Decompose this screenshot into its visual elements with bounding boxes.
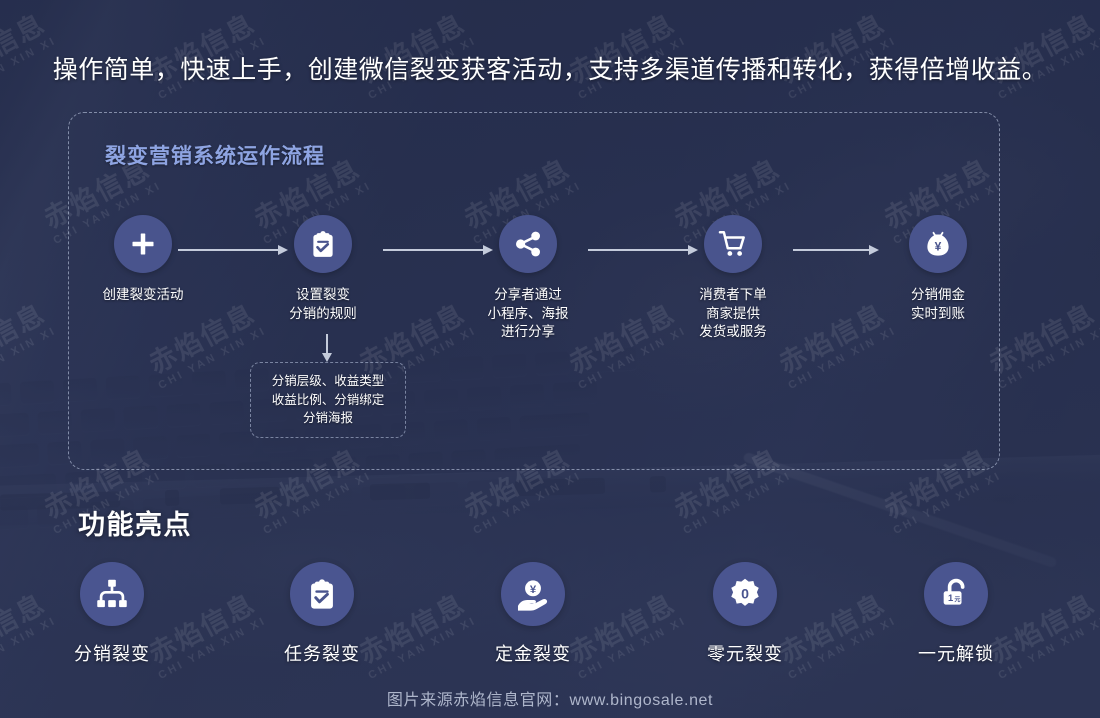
- feature-item-3[interactable]: ¥定金裂变: [443, 562, 623, 666]
- feature-item-4[interactable]: 0零元裂变: [655, 562, 835, 666]
- headline: 操作简单，快速上手，创建微信裂变获客活动，支持多渠道传播和转化，获得倍增收益。: [0, 50, 1100, 86]
- clipboard-check-icon: [290, 562, 354, 626]
- flow-detail-box: 分销层级、收益类型 收益比例、分销绑定 分销海报: [250, 362, 406, 438]
- feature-item-5[interactable]: 1元一元解锁: [866, 562, 1046, 666]
- svg-text:¥: ¥: [530, 584, 537, 596]
- flow-arrow-down: [322, 334, 332, 362]
- feature-label: 任务裂变: [232, 640, 412, 666]
- flow-arrow-2: [383, 245, 493, 255]
- flow-step-label: 分销佣金 实时到账: [863, 286, 1013, 323]
- unlock-one-yuan-icon: 1元: [924, 562, 988, 626]
- hand-holding-yuan-icon: ¥: [501, 562, 565, 626]
- flow-arrow-4: [793, 245, 879, 255]
- flow-step-label: 设置裂变 分销的规则: [248, 286, 398, 323]
- flow-detail-text: 分销层级、收益类型 收益比例、分销绑定 分销海报: [272, 372, 385, 428]
- feature-label: 分销裂变: [22, 640, 202, 666]
- feature-label: 一元解锁: [866, 640, 1046, 666]
- svg-text:元: 元: [954, 596, 960, 603]
- feature-label: 零元裂变: [655, 640, 835, 666]
- flow-step-label: 创建裂变活动: [68, 286, 218, 305]
- features-section-title: 功能亮点: [78, 503, 192, 542]
- clipboard-check-icon: [294, 215, 352, 273]
- share-nodes-icon: [499, 215, 557, 273]
- flow-arrow-3: [588, 245, 698, 255]
- svg-text:1: 1: [948, 593, 953, 603]
- money-bag-yuan-icon: ¥: [909, 215, 967, 273]
- feature-highlights: 分销裂变任务裂变¥定金裂变0零元裂变1元一元解锁: [0, 562, 1100, 672]
- flow-step-2: 设置裂变 分销的规则: [248, 215, 398, 323]
- feature-item-2[interactable]: 任务裂变: [232, 562, 412, 666]
- svg-text:¥: ¥: [935, 240, 942, 254]
- flow-title: 裂变营销系统运作流程: [105, 140, 325, 170]
- plus-icon: [114, 215, 172, 273]
- zero-badge-icon: 0: [713, 562, 777, 626]
- flow-step-label: 分享者通过 小程序、海报 进行分享: [453, 286, 603, 342]
- sitemap-icon: [80, 562, 144, 626]
- footer-source-text: 图片来源赤焰信息官网：www.bingosale.net: [0, 686, 1100, 710]
- flow-arrow-1: [178, 245, 288, 255]
- flow-step-5: ¥分销佣金 实时到账: [863, 215, 1013, 323]
- flow-step-label: 消费者下单 商家提供 发货或服务: [658, 286, 808, 342]
- feature-item-1[interactable]: 分销裂变: [22, 562, 202, 666]
- promo-banner: 赤焰信息CHI YAN XIN XI赤焰信息CHI YAN XIN XI赤焰信息…: [0, 0, 1100, 718]
- shopping-cart-icon: [704, 215, 762, 273]
- svg-text:0: 0: [741, 586, 749, 602]
- flow-step-1: 创建裂变活动: [68, 215, 218, 305]
- flow-step-4: 消费者下单 商家提供 发货或服务: [658, 215, 808, 342]
- flow-step-3: 分享者通过 小程序、海报 进行分享: [453, 215, 603, 342]
- flow-steps: 创建裂变活动设置裂变 分销的规则分享者通过 小程序、海报 进行分享消费者下单 商…: [68, 215, 1000, 365]
- feature-label: 定金裂变: [443, 640, 623, 666]
- content-layer: 操作简单，快速上手，创建微信裂变获客活动，支持多渠道传播和转化，获得倍增收益。 …: [0, 0, 1100, 718]
